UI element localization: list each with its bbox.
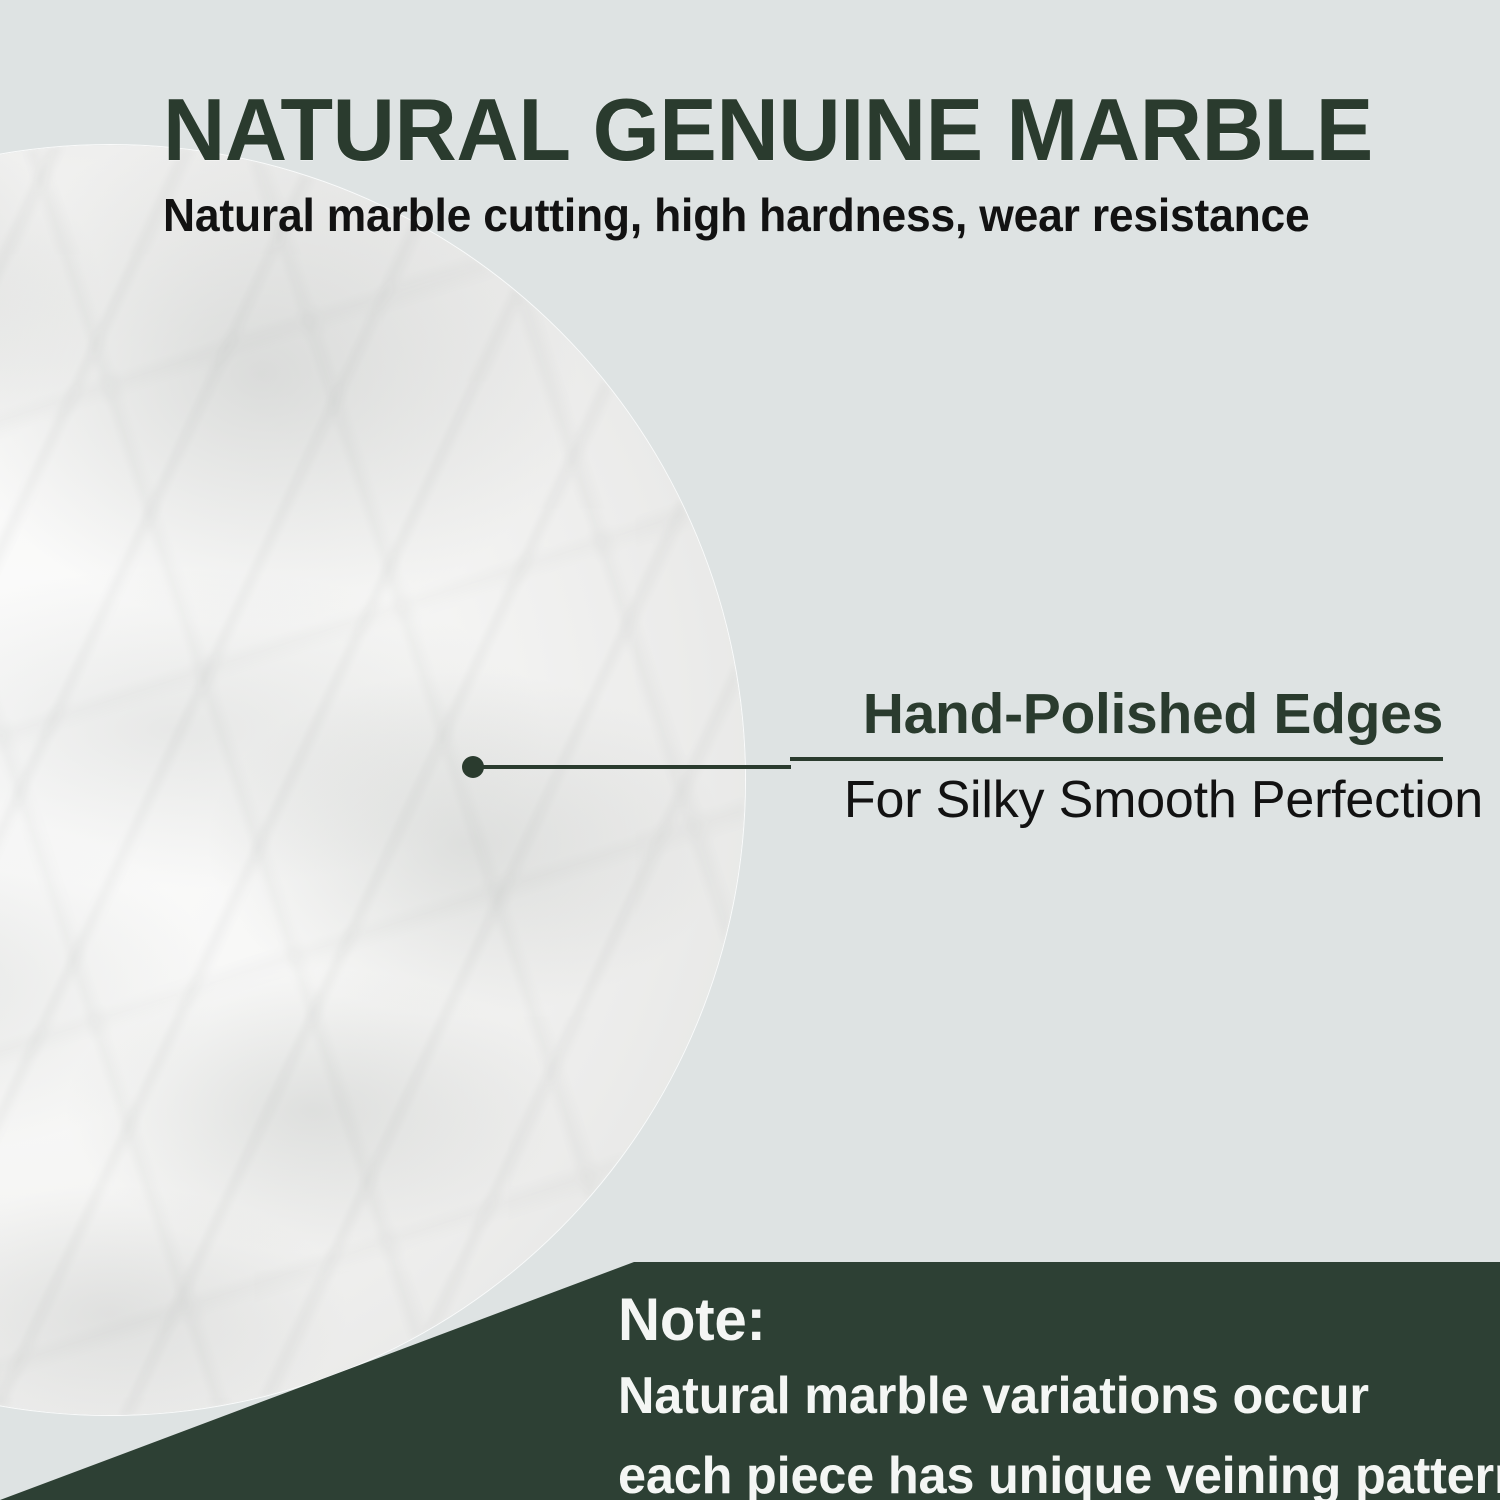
note-content: Note: Natural marble variations occur ea… <box>618 1290 1488 1500</box>
note-line-2: each piece has unique veining patterns <box>618 1450 1462 1500</box>
callout-title: Hand-Polished Edges <box>790 686 1443 743</box>
callout-divider <box>790 757 1443 761</box>
product-feature-graphic: NATURAL GENUINE MARBLE Natural marble cu… <box>0 0 1500 1500</box>
callout-subtitle: For Silky Smooth Perfection <box>790 773 1483 828</box>
callout-block: Hand-Polished Edges For Silky Smooth Per… <box>790 686 1443 828</box>
note-line-1: Natural marble variations occur <box>618 1370 1462 1422</box>
note-label: Note: <box>618 1290 1462 1350</box>
callout-leader-line <box>481 765 791 769</box>
page-subtitle: Natural marble cutting, high hardness, w… <box>163 192 1310 238</box>
page-title: NATURAL GENUINE MARBLE <box>163 86 1373 174</box>
marble-board-image <box>0 145 745 1415</box>
marble-polished-rim <box>0 145 745 1415</box>
